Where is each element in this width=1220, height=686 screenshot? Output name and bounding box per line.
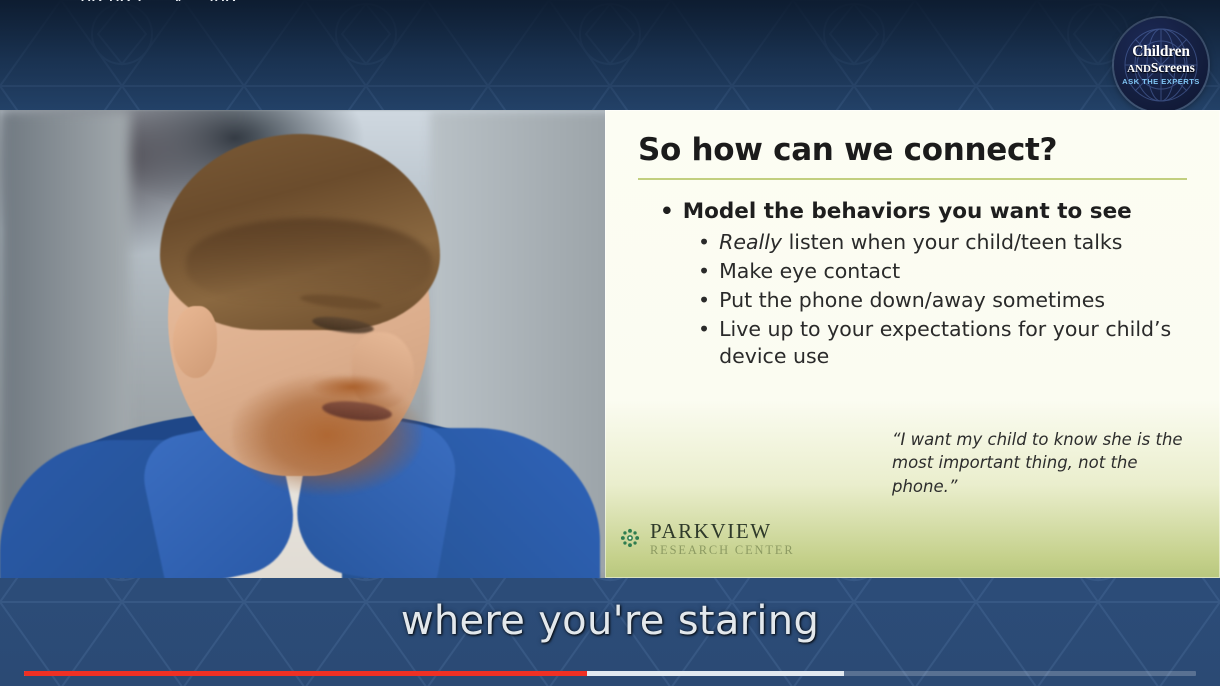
badge-line-3: ASK THE EXPERTS bbox=[1122, 78, 1200, 86]
bullet-text: listen when your child/teen talks bbox=[782, 230, 1122, 254]
slide-bullet-level2: • Live up to your expectations for your … bbox=[698, 316, 1205, 370]
parkview-flower-icon bbox=[619, 527, 641, 549]
slide-bullet-level2: • Put the phone down/away sometimes bbox=[698, 287, 1205, 314]
bullet-marker-icon: • bbox=[698, 316, 710, 342]
speaker-ear bbox=[173, 306, 217, 378]
speaker-video-panel[interactable] bbox=[0, 110, 617, 578]
slide-bullet-level2: • Make eye contact bbox=[698, 258, 1205, 285]
speaker-mustache bbox=[300, 372, 404, 402]
badge-line-2: ANDScreens bbox=[1127, 61, 1195, 75]
video-caption: where you're staring bbox=[0, 598, 1220, 644]
parkview-subtitle: RESEARCH CENTER bbox=[650, 544, 795, 556]
slide-bullet-level1: • Model the behaviors you want to see bbox=[660, 198, 1205, 226]
video-title-text: …ng ngs … y …ing … bbox=[60, 0, 1060, 1]
badge-line-1: Children bbox=[1132, 44, 1190, 60]
speaker-hair-shadow bbox=[186, 218, 432, 304]
badge-text-block: Children ANDScreens ASK THE EXPERTS bbox=[1114, 18, 1208, 112]
parkview-research-center-logo: PARKVIEW RESEARCH CENTER bbox=[619, 521, 795, 556]
badge-and-word: AND bbox=[1127, 63, 1151, 75]
bullet-marker-icon: • bbox=[698, 229, 710, 255]
bullet-marker-icon: • bbox=[698, 258, 710, 284]
slide-pull-quote: “I want my child to know she is the most… bbox=[892, 428, 1200, 498]
bullet-text: Live up to your expectations for your ch… bbox=[719, 316, 1205, 370]
bullet-marker-icon: • bbox=[698, 287, 710, 313]
slide-bullet-level2: • Really listen when your child/teen tal… bbox=[698, 229, 1205, 256]
badge-screens-word: Screens bbox=[1151, 60, 1195, 75]
slide-title-underline bbox=[638, 178, 1187, 180]
progress-played bbox=[24, 671, 587, 676]
children-and-screens-logo: Children ANDScreens ASK THE EXPERTS bbox=[1114, 18, 1208, 112]
bullet-marker-icon: • bbox=[660, 198, 674, 226]
bullet-text: Make eye contact bbox=[719, 258, 900, 285]
parkview-wordmark: PARKVIEW RESEARCH CENTER bbox=[650, 521, 795, 556]
bullet-text: Put the phone down/away sometimes bbox=[719, 287, 1105, 314]
parkview-name: PARKVIEW bbox=[650, 521, 795, 542]
slide-title: So how can we connect? bbox=[638, 132, 1057, 168]
bullet-text-line: Really listen when your child/teen talks bbox=[719, 229, 1122, 256]
slide-bullet-list: • Model the behaviors you want to see • … bbox=[660, 198, 1205, 372]
top-gradient-overlay bbox=[0, 0, 1220, 110]
presentation-slide[interactable]: So how can we connect? • Model the behav… bbox=[605, 110, 1220, 578]
video-progress-bar[interactable] bbox=[24, 671, 1196, 676]
video-player-stage: …ng ngs … y …ing … Children ANDScreens A… bbox=[0, 0, 1220, 686]
bullet-text: Model the behaviors you want to see bbox=[683, 198, 1132, 226]
bullet-emphasis: Really bbox=[719, 230, 782, 254]
